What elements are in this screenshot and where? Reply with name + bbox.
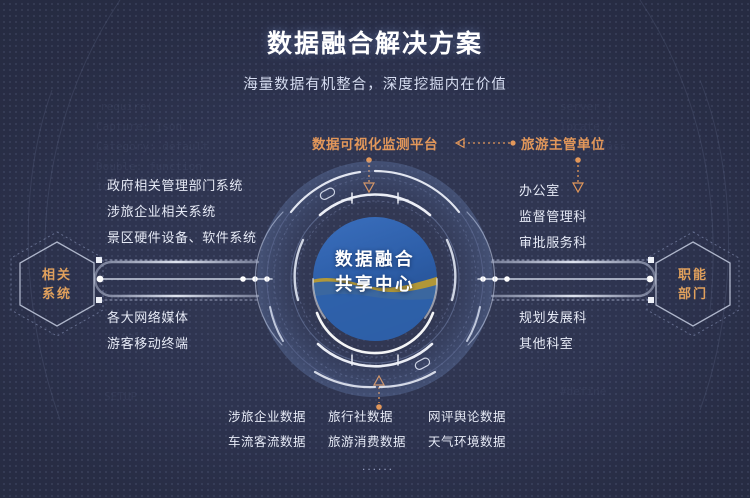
svg-text:require(: require( bbox=[100, 100, 153, 113]
table-row: 涉旅企业数据 旅行社数据 网评舆论数据 bbox=[228, 405, 528, 430]
hexagon-right-line-1: 职能 bbox=[678, 265, 708, 284]
dropper-connector-left bbox=[362, 157, 376, 195]
svg-text:Capture: json: Capture: json bbox=[96, 120, 182, 133]
label-tourism-authority: 旅游主管单位 bbox=[521, 133, 605, 153]
header-block: 数据融合解决方案 海量数据有机整合，深度挖掘内在价值 bbox=[0, 24, 750, 94]
list-item: 景区硬件设备、软件系统 bbox=[107, 225, 257, 251]
center-line-1: 数据融合 bbox=[300, 247, 450, 272]
svg-text:function(): function() bbox=[100, 290, 166, 303]
grid-cell: 旅游消费数据 bbox=[328, 430, 428, 455]
list-item: 审批服务科 bbox=[519, 230, 587, 256]
list-item: 监督管理科 bbox=[519, 204, 587, 230]
label-visualization-platform: 数据可视化监测平台 bbox=[312, 133, 438, 153]
page-subtitle: 海量数据有机整合，深度挖掘内在价值 bbox=[0, 73, 750, 94]
list-item: 各大网络媒体 bbox=[107, 305, 189, 331]
grid-ellipsis: ...... bbox=[228, 459, 528, 473]
table-row: 车流客流数据 旅游消费数据 天气环境数据 bbox=[228, 430, 528, 455]
grid-cell: 网评舆论数据 bbox=[428, 405, 528, 430]
center-label: 数据融合 共享中心 bbox=[300, 247, 450, 297]
bottom-data-grid: 涉旅企业数据 旅行社数据 网评舆论数据 车流客流数据 旅游消费数据 天气环境数据… bbox=[228, 405, 528, 473]
svg-text:locate /: locate / bbox=[560, 120, 613, 133]
page-title: 数据融合解决方案 bbox=[0, 24, 750, 60]
svg-text:server {: server { bbox=[560, 100, 613, 113]
list-right-top: 办公室 监督管理科 审批服务科 bbox=[519, 178, 587, 256]
hexagon-related-systems[interactable]: 相关 系统 bbox=[5, 228, 109, 340]
grid-cell: 涉旅企业数据 bbox=[228, 405, 328, 430]
top-label-row: 数据可视化监测平台 旅游主管单位 bbox=[0, 133, 750, 157]
list-item: 政府相关管理部门系统 bbox=[107, 173, 257, 199]
connector-right bbox=[478, 257, 655, 303]
svg-text:SETUP: SETUP bbox=[104, 390, 137, 403]
list-left-bottom: 各大网络媒体 游客移动终端 bbox=[107, 305, 189, 357]
list-item: 游客移动终端 bbox=[107, 331, 189, 357]
hexagon-functional-departments[interactable]: 职能 部门 bbox=[641, 228, 745, 340]
hexagon-right-line-2: 部门 bbox=[678, 284, 708, 303]
hexagon-left-line-1: 相关 bbox=[42, 265, 72, 284]
infographic-canvas: require( Capture: json Category: default… bbox=[0, 0, 750, 498]
grid-cell: 车流客流数据 bbox=[228, 430, 328, 455]
list-item: 其他科室 bbox=[519, 331, 587, 357]
connector-left bbox=[95, 257, 272, 303]
list-item: 规划发展科 bbox=[519, 305, 587, 331]
hexagon-left-line-2: 系统 bbox=[42, 284, 72, 303]
center-line-2: 共享中心 bbox=[300, 272, 450, 297]
hexagon-right-text: 职能 部门 bbox=[641, 228, 745, 340]
list-left-top: 政府相关管理部门系统 涉旅企业相关系统 景区硬件设备、软件系统 bbox=[107, 173, 257, 251]
dotted-arrow-left-icon bbox=[444, 136, 520, 150]
list-item: 涉旅企业相关系统 bbox=[107, 199, 257, 225]
list-right-bottom: 规划发展科 其他科室 bbox=[519, 305, 587, 357]
hexagon-left-text: 相关 系统 bbox=[5, 228, 109, 340]
svg-text:Double: function: Double: function bbox=[96, 160, 202, 173]
list-item: 办公室 bbox=[519, 178, 587, 204]
svg-text:#define: #define bbox=[560, 385, 606, 398]
grid-cell: 旅行社数据 bbox=[328, 405, 428, 430]
grid-cell: 天气环境数据 bbox=[428, 430, 528, 455]
